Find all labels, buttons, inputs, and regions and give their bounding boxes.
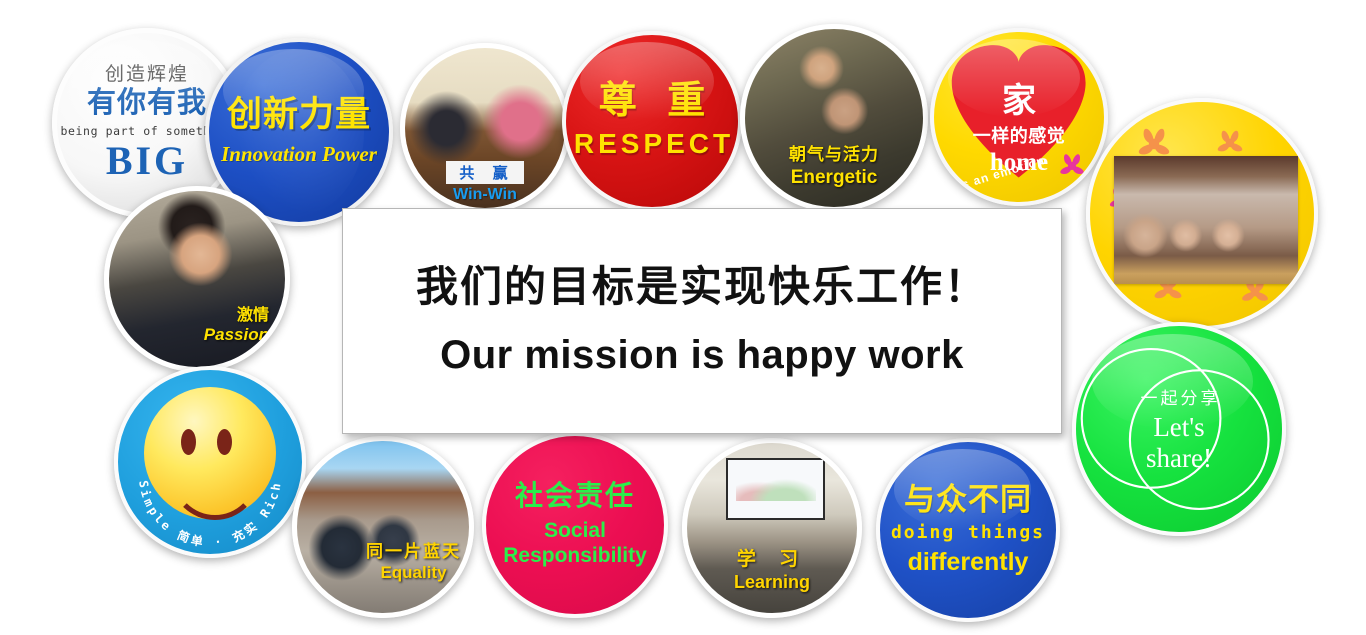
badge-innovation-line1: 创新力量 [227,97,371,132]
badge-home[interactable]: 家 一样的感觉 home is an emotion [930,28,1108,206]
badge-share-content: 一起分享 Let's share! [1138,384,1221,474]
badge-team-photo[interactable] [1086,98,1318,330]
badge-learning-line1: 学 习 [737,549,807,570]
badge-share-line2: Let's [1153,412,1204,443]
badge-respect-line2: RESPECT [570,128,734,160]
badge-social-content: 社会责任 Social Responsibility [486,436,664,614]
badge-winwin-caption: 共 赢 Win-Win [405,161,565,204]
badge-differently-line2: doing things [891,522,1045,543]
badge-learning[interactable]: 学 习 Learning [682,438,862,618]
badge-big-line2: 有你有我 [87,87,207,120]
badge-passion-caption: 激情 Passion [204,301,269,345]
badge-differently[interactable]: 与众不同 doing things differently [876,438,1060,622]
presentation-screen [726,458,825,520]
mission-banner: 我们的目标是实现快乐工作！ Our mission is happy work [342,208,1062,434]
badge-share-line1: 一起分享 [1138,384,1221,409]
badge-winwin-line2: Win-Win [405,186,565,204]
badge-social-responsibility[interactable]: 社会责任 Social Responsibility [482,432,668,618]
badge-passion[interactable]: 激情 Passion [104,186,290,372]
badge-energetic[interactable]: 朝气与活力 Energetic [740,24,928,212]
badge-differently-line1: 与众不同 [904,484,1032,515]
badge-energetic-line1: 朝气与活力 [789,145,879,164]
badge-energetic-caption: 朝气与活力 Energetic [745,140,923,189]
badge-social-line2: Social [544,519,606,543]
badge-share[interactable]: 一起分享 Let's share! [1072,322,1286,536]
badge-differently-line3: differently [908,548,1029,577]
badge-equality[interactable]: 同一片蓝天 Equality [292,436,474,618]
badge-winwin-line1: 共 赢 [446,161,523,184]
equality-friends-photo [297,441,469,613]
badge-smile-arc-text: Simple 简单 · 充实 Rich [136,480,284,550]
flower-icon [1052,146,1092,186]
badge-equality-caption: 同一片蓝天 Equality [366,537,461,583]
badge-share-line3: share! [1146,443,1212,474]
badge-respect-line1: 尊 重 [589,82,716,120]
mission-headline-cn: 我们的目标是实现快乐工作！ [416,264,988,310]
badge-social-line3: Responsibility [503,544,647,568]
bell-curve-chart [736,471,816,501]
badge-big-line4: BIG [106,141,188,181]
badge-energetic-line2: Energetic [745,167,923,189]
badge-equality-line1: 同一片蓝天 [366,542,461,561]
badge-differently-content: 与众不同 doing things differently [880,442,1056,618]
badge-equality-line2: Equality [366,563,461,583]
badge-respect-content: 尊 重 RESPECT [566,35,738,207]
badge-respect[interactable]: 尊 重 RESPECT [562,31,742,211]
culture-values-poster: 创造辉煌 有你有我 being part of something BIG 创新… [0,0,1366,635]
badge-smile-arc: Simple 简单 · 充实 Rich [118,370,302,554]
badge-passion-line1: 激情 [237,307,269,324]
team-group-photo [1114,156,1298,284]
badge-innovation-line2: Innovation Power [221,142,377,167]
mission-headline-en: Our mission is happy work [440,333,964,378]
badge-winwin[interactable]: 共 赢 Win-Win [400,43,570,213]
badge-smile[interactable]: Simple 简单 · 充实 Rich [114,366,306,558]
badge-home-line1: 家 [1002,84,1036,118]
badge-learning-line2: Learning [687,572,857,593]
badge-home-line2: 一样的感觉 [973,122,1066,148]
badge-social-line1: 社会责任 [515,482,635,510]
badge-learning-caption: 学 习 Learning [687,544,857,593]
badge-big-line1: 创造辉煌 [105,65,189,86]
badge-passion-line2: Passion [204,325,269,345]
